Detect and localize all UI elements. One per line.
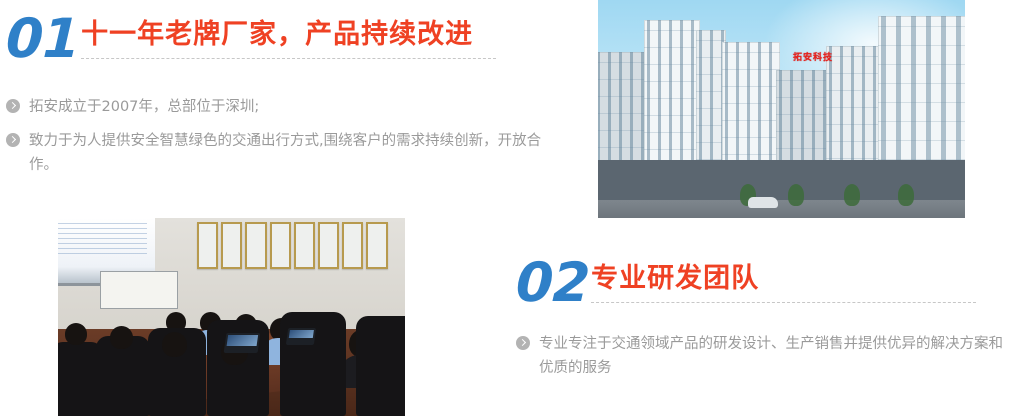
laptop: [223, 333, 260, 353]
section-02-heading: 02 专业研发团队: [516, 258, 1006, 308]
person-head: [110, 326, 133, 349]
chevron-right-circle-icon: [6, 133, 20, 147]
section-number-01: 01: [5, 14, 82, 64]
tree: [788, 184, 804, 206]
framed-certificate: [294, 222, 315, 270]
section-title-01: 十一年老牌厂家，产品持续改进: [81, 18, 496, 52]
framed-certificate: [197, 222, 218, 270]
framed-certificate: [270, 222, 291, 270]
section-title-02: 专业研发团队: [591, 262, 976, 296]
rd-team-meeting-photo: [58, 218, 405, 416]
parked-car: [748, 197, 778, 208]
list-item: 拓安成立于2007年，总部位于深圳;: [6, 95, 566, 119]
section-number-02: 02: [515, 258, 592, 308]
building-block: [644, 20, 700, 202]
building-base: [878, 160, 965, 202]
building-block: [776, 70, 830, 202]
heading-text-group: 专业研发团队: [591, 258, 976, 304]
section-01-heading: 01 十一年老牌厂家，产品持续改进: [6, 14, 566, 64]
heading-row: 01 十一年老牌厂家，产品持续改进: [6, 14, 566, 64]
building-block: [878, 16, 965, 202]
office-chair: [356, 316, 405, 416]
company-intro-page: 01 十一年老牌厂家，产品持续改进 拓安成立于2007年，总部位于深圳; 致力于…: [0, 0, 1009, 416]
person: [110, 326, 133, 349]
chevron-right-circle-icon: [516, 336, 530, 350]
bullet-text: 拓安成立于2007年，总部位于深圳;: [29, 95, 259, 119]
rooftop-sign-text: 拓安科技: [793, 50, 833, 63]
section-01-bullet-list: 拓安成立于2007年，总部位于深圳; 致力于为人提供安全智慧绿色的交通出行方式,…: [6, 95, 566, 187]
framed-certificate: [221, 222, 242, 270]
framed-certificate: [318, 222, 339, 270]
bullet-text: 致力于为人提供安全智慧绿色的交通出行方式,围绕客户的需求持续创新，开放合作。: [29, 129, 566, 177]
office-building-photo: 拓安科技: [598, 0, 965, 218]
framed-certificate: [366, 222, 387, 270]
building-block: [826, 46, 882, 202]
certificate-wall: [197, 222, 388, 270]
tree: [898, 184, 914, 206]
heading-divider-01: [81, 58, 496, 60]
bullet-text: 专业专注于交通领域产品的研发设计、生产销售并提供优异的解决方案和优质的服务: [539, 332, 1004, 380]
chevron-right-circle-icon: [6, 99, 20, 113]
framed-certificate: [342, 222, 363, 270]
person: [162, 332, 187, 357]
person-head: [162, 332, 187, 357]
laptop: [286, 328, 316, 345]
building-base: [644, 160, 700, 202]
heading-divider-02: [591, 302, 976, 304]
heading-row: 02 专业研发团队: [516, 258, 1006, 308]
person-head: [65, 323, 87, 345]
framed-certificate: [245, 222, 266, 270]
list-item: 致力于为人提供安全智慧绿色的交通出行方式,围绕客户的需求持续创新，开放合作。: [6, 129, 566, 177]
heading-text-group: 十一年老牌厂家，产品持续改进: [81, 14, 496, 60]
section-02-bullet-list: 专业专注于交通领域产品的研发设计、生产销售并提供优异的解决方案和优质的服务: [516, 332, 1004, 390]
tree: [844, 184, 860, 206]
list-item: 专业专注于交通领域产品的研发设计、生产销售并提供优异的解决方案和优质的服务: [516, 332, 1004, 380]
whiteboard: [100, 271, 178, 309]
building-block: [722, 42, 780, 202]
person: [65, 323, 87, 345]
